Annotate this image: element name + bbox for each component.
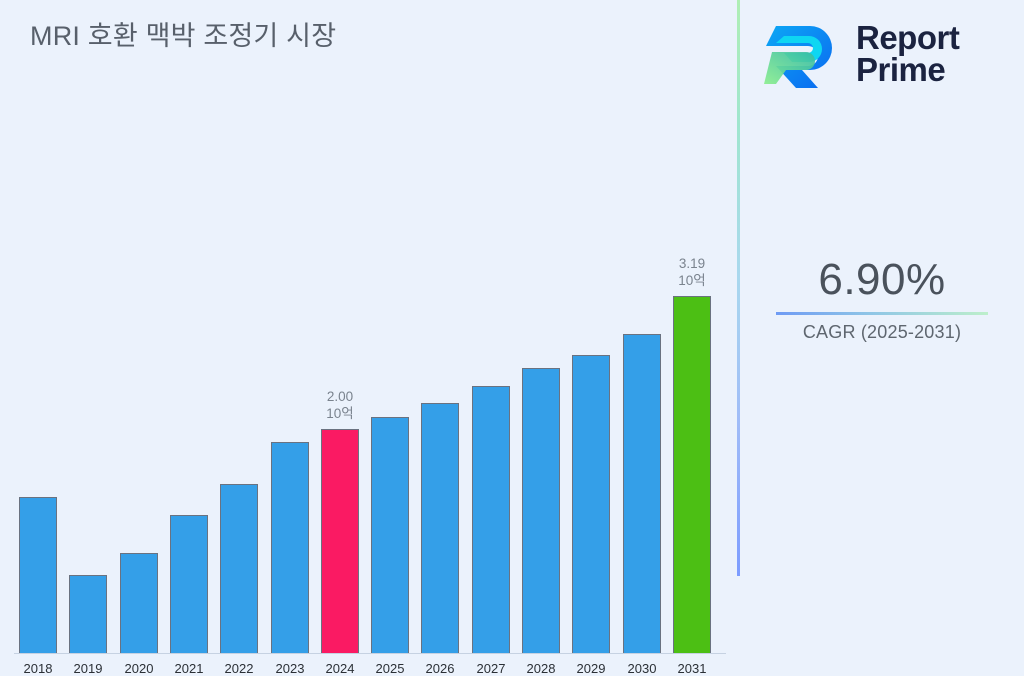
- bar-value-unit: 10억: [678, 273, 705, 288]
- bar-2021[interactable]: [170, 515, 208, 653]
- bar-group: [19, 497, 57, 653]
- bar-value-label-2031: 3.1910억: [652, 255, 732, 289]
- x-axis-line: [14, 653, 726, 654]
- bar-2025[interactable]: [371, 417, 409, 653]
- logo-wordmark: Report Prime: [856, 22, 959, 87]
- bar-2028[interactable]: [522, 368, 560, 653]
- bar-2024[interactable]: [321, 429, 359, 653]
- bar-group: [421, 403, 459, 653]
- bar-2020[interactable]: [120, 553, 158, 653]
- report-prime-logo-icon: [762, 14, 846, 94]
- bar-group: [170, 515, 208, 653]
- bar-value-unit: 10억: [326, 406, 353, 421]
- bar-2031[interactable]: [673, 296, 711, 653]
- bar-2030[interactable]: [623, 334, 661, 653]
- cagr-block: 6.90% CAGR (2025-2031): [740, 255, 1024, 343]
- bar-2027[interactable]: [472, 386, 510, 653]
- plot-area: 2018201920202021202220232.0010억202420252…: [0, 120, 738, 535]
- logo: Report Prime: [762, 14, 959, 94]
- chart-panel: MRI 호환 맥박 조정기 시장 20182019202020212022202…: [0, 0, 738, 576]
- bar-group: [673, 296, 711, 653]
- bar-group: [321, 429, 359, 653]
- bar-group: [472, 386, 510, 653]
- cagr-divider-rule: [776, 312, 988, 315]
- x-tick-2031: 2031: [652, 661, 732, 676]
- bar-group: [623, 334, 661, 653]
- bar-group: [371, 417, 409, 653]
- bar-2029[interactable]: [572, 355, 610, 653]
- bar-group: [69, 575, 107, 653]
- bar-group: [522, 368, 560, 653]
- bar-2026[interactable]: [421, 403, 459, 653]
- bar-value-label-2024: 2.0010억: [300, 388, 380, 422]
- bar-2019[interactable]: [69, 575, 107, 653]
- bar-group: [271, 442, 309, 653]
- bar-2022[interactable]: [220, 484, 258, 653]
- bar-2023[interactable]: [271, 442, 309, 653]
- cagr-caption: CAGR (2025-2031): [740, 322, 1024, 343]
- bar-value-number: 3.19: [679, 256, 705, 271]
- bar-2018[interactable]: [19, 497, 57, 653]
- logo-line-2: Prime: [856, 51, 945, 88]
- bar-group: [572, 355, 610, 653]
- bar-value-number: 2.00: [327, 389, 353, 404]
- brand-panel: Report Prime 6.90% CAGR (2025-2031): [740, 0, 1024, 576]
- page-title: MRI 호환 맥박 조정기 시장: [30, 14, 336, 53]
- bar-group: [220, 484, 258, 653]
- cagr-value: 6.90%: [740, 255, 1024, 305]
- bar-group: [120, 553, 158, 653]
